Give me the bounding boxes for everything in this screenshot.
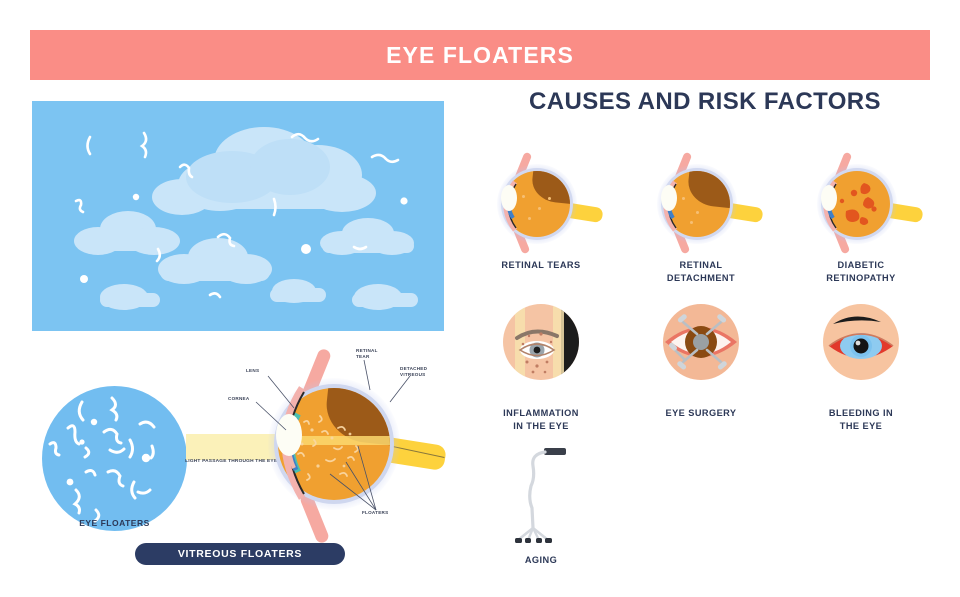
inflamed-eye-closeup-icon xyxy=(503,304,579,380)
diabetic-retinopathy-art xyxy=(786,150,936,255)
eye-floaters-caption: EYE FLOATERS xyxy=(42,518,187,528)
lens xyxy=(821,185,837,211)
floater-speck xyxy=(682,197,685,200)
floater-speck xyxy=(528,217,531,220)
section-title: CAUSES AND RISK FACTORS xyxy=(478,88,932,116)
eye-surgery-icon xyxy=(663,304,739,380)
floater-speck xyxy=(690,221,693,224)
floater-speck xyxy=(538,207,541,210)
card-diabetic-retinopathy[interactable]: DIABETIC RETINOPATHY xyxy=(786,150,936,286)
card-label: BLEEDING IN THE EYE xyxy=(786,407,936,434)
card-label: INFLAMMATION IN THE EYE xyxy=(466,407,616,434)
page-title: EYE FLOATERS xyxy=(386,42,574,69)
header-banner: EYE FLOATERS xyxy=(30,30,930,80)
inflammation-art xyxy=(466,298,616,403)
card-retinal-detachment[interactable]: RETINAL DETACHMENT xyxy=(626,150,776,286)
walking-cane-svg xyxy=(506,442,576,546)
bloodshot-eye-svg xyxy=(823,304,899,380)
inflamed-eye-svg xyxy=(503,304,579,380)
eye-cross-section-diagram: LENS CORNEA RETINAL TEAR DETACHED VITREO… xyxy=(250,350,450,535)
card-label: DIABETIC RETINOPATHY xyxy=(786,259,936,286)
retinal-detachment-art xyxy=(626,150,776,255)
annotation-leader-lines xyxy=(250,350,450,535)
retinal-tears-art xyxy=(466,150,616,255)
bloodshot-eye-icon xyxy=(823,304,899,380)
sky-with-floaters-illustration xyxy=(32,101,444,331)
card-eye-surgery[interactable]: EYE SURGERY xyxy=(626,298,776,420)
card-label: RETINAL DETACHMENT xyxy=(626,259,776,286)
bleeding-eye-art xyxy=(786,298,936,403)
eyeball-icon xyxy=(485,158,597,253)
vitreous-floaters-banner: VITREOUS FLOATERS xyxy=(135,543,345,565)
floater-speck xyxy=(548,197,551,200)
eyeball-icon xyxy=(805,158,917,253)
lens xyxy=(661,185,677,211)
card-label: RETINAL TEARS xyxy=(466,259,616,272)
cornea-annotation: CORNEA xyxy=(228,396,249,402)
eye-floaters-circle xyxy=(42,386,187,531)
card-bleeding-in-the-eye[interactable]: BLEEDING IN THE EYE xyxy=(786,298,936,434)
walking-cane-icon xyxy=(506,442,576,542)
floaters-squiggles-svg xyxy=(42,386,187,531)
vitreous-floaters-label: VITREOUS FLOATERS xyxy=(178,548,302,560)
detachment-region xyxy=(686,171,730,208)
eye-surgery-art xyxy=(626,298,776,403)
eyeball-icon xyxy=(645,158,757,253)
lens xyxy=(501,185,517,211)
sky-clouds-svg xyxy=(32,101,444,331)
floater-speck xyxy=(696,211,699,214)
card-label: AGING xyxy=(466,554,616,567)
card-label: EYE SURGERY xyxy=(626,407,776,420)
card-inflammation-in-the-eye[interactable]: INFLAMMATION IN THE EYE xyxy=(466,298,616,434)
eye-surgery-svg xyxy=(663,304,739,380)
aging-art xyxy=(466,440,616,552)
card-aging[interactable]: AGING xyxy=(466,440,616,567)
infographic-page: EYE FLOATERS CAUSES AND RISK FACTORS xyxy=(0,0,960,597)
floater-speck xyxy=(522,195,525,198)
card-retinal-tears[interactable]: RETINAL TEARS xyxy=(466,150,616,272)
